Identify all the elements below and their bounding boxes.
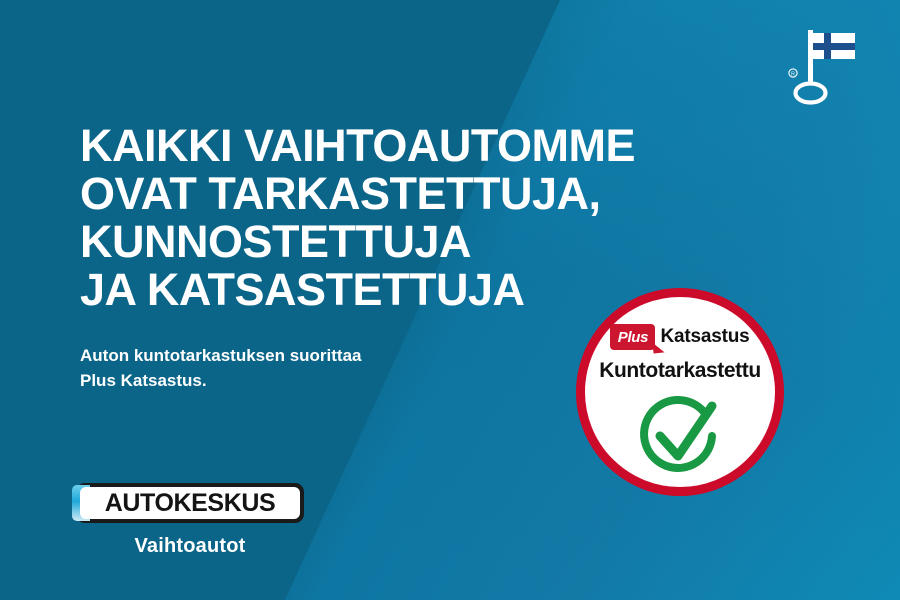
badge-status-text: Kuntotarkastettu: [599, 359, 761, 383]
finnish-key-flag-icon: R: [786, 28, 856, 106]
headline-line-3: KUNNOSTETTUJA: [80, 218, 680, 266]
certification-badge: Plus Katsastus Kuntotarkastettu: [576, 288, 784, 496]
subtitle-line-2: Plus Katsastus.: [80, 368, 500, 393]
license-plate-face: AUTOKESKUS: [80, 487, 300, 519]
plus-logo-tail: [653, 341, 665, 353]
brand-name: AUTOKESKUS: [105, 491, 276, 516]
svg-text:R: R: [791, 72, 795, 78]
license-plate-badge: AUTOKESKUS: [76, 483, 304, 523]
headline-line-2: OVAT TARKASTETTUJA,: [80, 170, 680, 218]
subtitle: Auton kuntotarkastuksen suorittaa Plus K…: [80, 343, 500, 393]
badge-brand-row: Plus Katsastus: [610, 324, 749, 350]
green-circle-check-icon: [632, 390, 728, 487]
plus-logo-text: Plus: [618, 329, 648, 346]
plus-logo-mark: Plus: [610, 324, 655, 350]
advertisement-banner: R KAIKKI VAIHTOAUTOMME OVAT TARKASTETTUJ…: [0, 0, 900, 600]
logo-tagline: Vaihtoautot: [76, 535, 304, 558]
autokeskus-logo[interactable]: AUTOKESKUS Vaihtoautot: [76, 483, 304, 558]
subtitle-line-1: Auton kuntotarkastuksen suorittaa: [80, 343, 500, 368]
headline-line-4: JA KATSASTETTUJA: [80, 266, 680, 314]
badge-brand-name: Katsastus: [660, 326, 749, 348]
headline: KAIKKI VAIHTOAUTOMME OVAT TARKASTETTUJA,…: [80, 122, 680, 314]
headline-line-1: KAIKKI VAIHTOAUTOMME: [80, 122, 680, 170]
